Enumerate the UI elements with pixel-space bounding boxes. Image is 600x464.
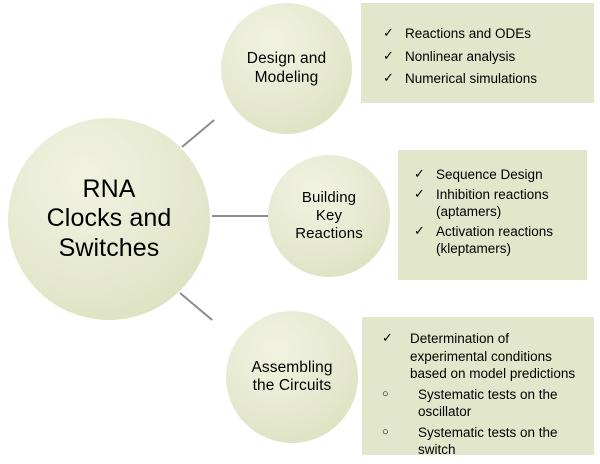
check-icon: ✓ <box>414 186 430 203</box>
diagram-canvas: RNA Clocks and Switches Design and Model… <box>0 0 600 464</box>
list-item: ✓ Activation reactions (kleptamers) <box>414 223 579 258</box>
node-design-and-modeling[interactable]: Design and Modeling <box>221 3 352 134</box>
list-building-key-reactions: ✓ Sequence Design ✓ Inhibition reactions… <box>414 166 579 258</box>
circle-bullet-icon: ○ <box>382 425 398 439</box>
list-item-label: Determination of experimental conditions… <box>410 330 586 383</box>
node-building-line-2: Key <box>295 207 363 225</box>
check-icon: ✓ <box>383 48 399 65</box>
node-assembling-line-1: Assembling <box>251 359 332 377</box>
central-node-line-3: Switches <box>47 234 172 264</box>
list-item-label: Nonlinear analysis <box>405 48 584 66</box>
circle-bullet-icon: ○ <box>382 387 398 401</box>
node-assembling-line-2: the Circuits <box>251 377 332 395</box>
central-node-line-1: RNA <box>47 175 172 205</box>
list-item-label: Numerical simulations <box>405 70 584 88</box>
content-box-building-key-reactions: ✓ Sequence Design ✓ Inhibition reactions… <box>398 150 587 280</box>
list-item-label: Systematic tests on the switch <box>418 424 586 459</box>
node-assembling-the-circuits[interactable]: Assembling the Circuits <box>226 311 358 443</box>
list-item: ✓ Nonlinear analysis <box>383 48 584 66</box>
connector-main-to-building <box>212 215 268 217</box>
node-building-key-reactions[interactable]: Building Key Reactions <box>268 155 390 277</box>
list-item-label: Activation reactions (kleptamers) <box>436 223 579 258</box>
central-node-rna-clocks-and-switches[interactable]: RNA Clocks and Switches <box>8 118 210 320</box>
central-node-line-2: Clocks and <box>47 204 172 234</box>
node-building-line-1: Building <box>295 189 363 207</box>
node-building-line-3: Reactions <box>295 225 363 243</box>
list-design-and-modeling: ✓ Reactions and ODEs ✓ Nonlinear analysi… <box>383 25 584 88</box>
central-node-label: RNA Clocks and Switches <box>47 175 172 264</box>
connector-main-to-assembling <box>179 292 212 321</box>
node-design-line-1: Design and <box>247 50 326 68</box>
list-item: ✓ Reactions and ODEs <box>383 25 584 43</box>
connector-main-to-design <box>181 119 214 148</box>
content-box-assembling-the-circuits: ✓ Determination of experimental conditio… <box>362 317 594 455</box>
list-item-label: Systematic tests on the oscillator <box>418 386 586 421</box>
check-icon: ✓ <box>414 166 430 183</box>
node-design-and-modeling-label: Design and Modeling <box>247 50 326 87</box>
list-item: ○ Systematic tests on the switch <box>374 424 586 459</box>
node-assembling-the-circuits-label: Assembling the Circuits <box>251 359 332 396</box>
content-box-design-and-modeling: ✓ Reactions and ODEs ✓ Nonlinear analysi… <box>361 3 594 103</box>
check-icon: ✓ <box>383 70 399 87</box>
list-item: ○ Systematic tests on the oscillator <box>374 386 586 421</box>
list-item-label: Inhibition reactions (aptamers) <box>436 186 579 221</box>
list-item-label: Sequence Design <box>436 166 579 184</box>
node-building-key-reactions-label: Building Key Reactions <box>295 189 363 242</box>
check-icon: ✓ <box>414 223 430 240</box>
check-icon: ✓ <box>383 25 399 42</box>
check-icon: ✓ <box>382 330 398 347</box>
list-item: ✓ Sequence Design <box>414 166 579 184</box>
node-design-line-2: Modeling <box>247 69 326 87</box>
list-item: ✓ Inhibition reactions (aptamers) <box>414 186 579 221</box>
list-item-label: Reactions and ODEs <box>405 25 584 43</box>
list-item: ✓ Determination of experimental conditio… <box>374 330 586 383</box>
list-assembling-the-circuits: ✓ Determination of experimental conditio… <box>374 330 586 459</box>
list-item: ✓ Numerical simulations <box>383 70 584 88</box>
